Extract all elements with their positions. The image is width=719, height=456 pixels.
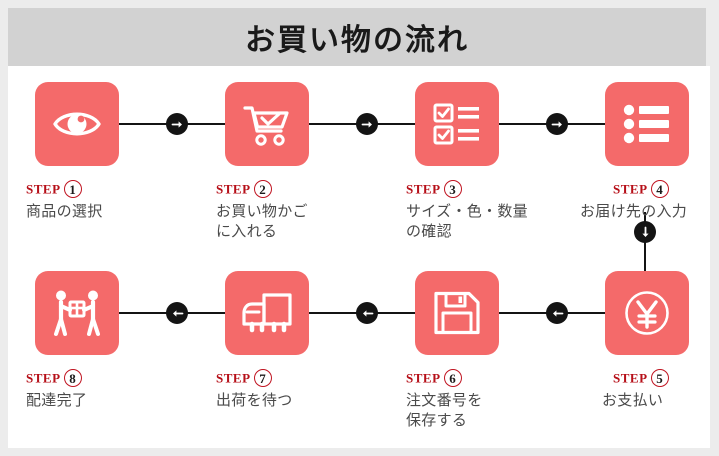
- shopping-cart-icon: [225, 82, 309, 166]
- step-2-caption: お買い物かご に入れる: [216, 202, 308, 242]
- flow-panel: STEP1 商品の選択 STEP2 お買い物かご に入れる: [8, 66, 710, 448]
- step-7-caption: 出荷を待つ: [216, 391, 293, 411]
- arrow-down-icon-4-to-5: [634, 221, 656, 243]
- step-8-number: 8: [64, 369, 82, 387]
- step-7-word: STEP: [216, 371, 251, 386]
- step-2-word: STEP: [216, 182, 251, 197]
- step-5-word: STEP: [613, 371, 648, 386]
- step-7-number: 7: [254, 369, 272, 387]
- arrow-left-icon-6-to-7: [356, 302, 378, 324]
- step-6-number: 6: [444, 369, 462, 387]
- step-3-word: STEP: [406, 182, 441, 197]
- step-1-word: STEP: [26, 182, 61, 197]
- step-3-label: STEP3: [406, 180, 462, 198]
- step-8-word: STEP: [26, 371, 61, 386]
- step-4-word: STEP: [613, 182, 648, 197]
- step-5-caption: お支払い: [602, 391, 663, 411]
- page-title-bar: お買い物の流れ: [8, 8, 706, 66]
- arrow-right-icon-3-to-4: [546, 113, 568, 135]
- step-2-label: STEP2: [216, 180, 272, 198]
- arrow-left-icon-5-to-6: [546, 302, 568, 324]
- shopping-flow-infographic: お買い物の流れ: [0, 0, 719, 456]
- page-title: お買い物の流れ: [245, 15, 469, 59]
- eye-icon: [35, 82, 119, 166]
- step-7-label: STEP7: [216, 369, 272, 387]
- step-6-word: STEP: [406, 371, 441, 386]
- step-1-caption: 商品の選択: [26, 202, 103, 222]
- step-3-number: 3: [444, 180, 462, 198]
- package-handover-icon: [35, 271, 119, 355]
- step-6-caption: 注文番号を 保存する: [406, 391, 483, 431]
- step-4-label: STEP4: [613, 180, 669, 198]
- step-4-caption: お届け先の入力: [580, 202, 687, 222]
- step-8-caption: 配達完了: [26, 391, 87, 411]
- step-3-caption: サイズ・色・数量 の確認: [406, 202, 528, 242]
- step-1-number: 1: [64, 180, 82, 198]
- checklist-icon: [415, 82, 499, 166]
- bullet-list-icon: [605, 82, 689, 166]
- step-1-label: STEP1: [26, 180, 82, 198]
- step-2-number: 2: [254, 180, 272, 198]
- step-6-label: STEP6: [406, 369, 462, 387]
- step-4-number: 4: [651, 180, 669, 198]
- floppy-disk-save-icon: [415, 271, 499, 355]
- yen-coin-icon: [605, 271, 689, 355]
- step-8-label: STEP8: [26, 369, 82, 387]
- arrow-right-icon-1-to-2: [166, 113, 188, 135]
- delivery-truck-icon: [225, 271, 309, 355]
- step-5-number: 5: [651, 369, 669, 387]
- arrow-right-icon-2-to-3: [356, 113, 378, 135]
- arrow-left-icon-7-to-8: [166, 302, 188, 324]
- step-5-label: STEP5: [613, 369, 669, 387]
